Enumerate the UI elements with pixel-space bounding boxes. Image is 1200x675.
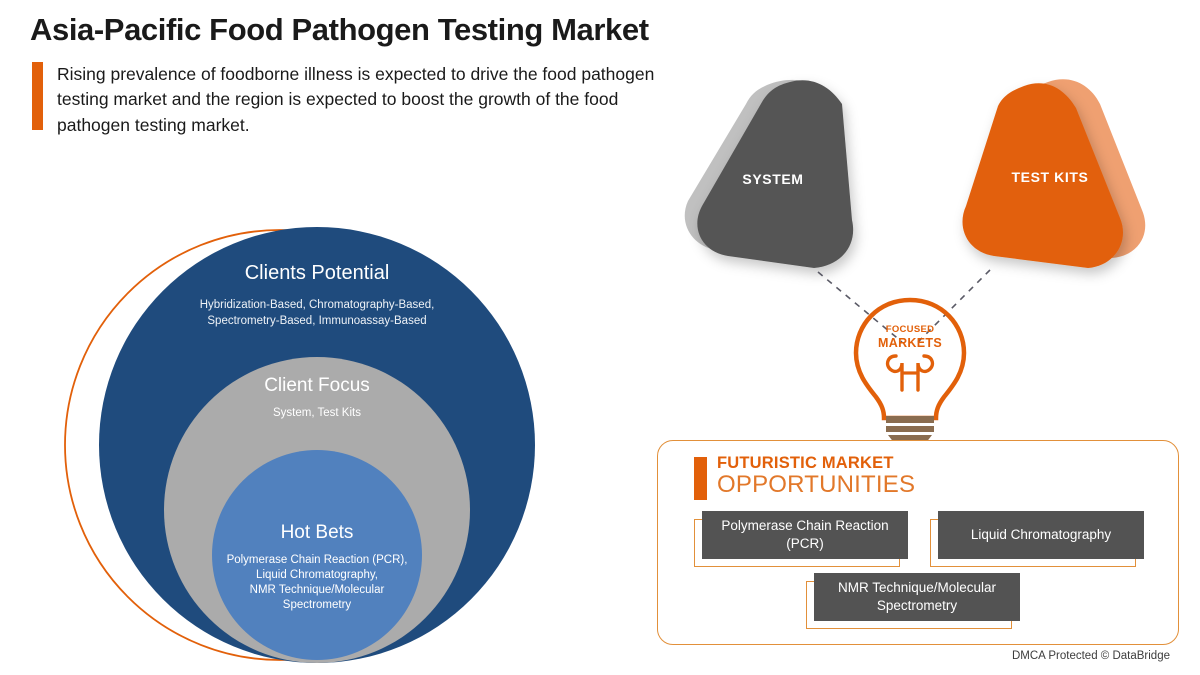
- panel-heading-line1: FUTURISTIC MARKET: [717, 455, 915, 472]
- inner-circle-items-line3: NMR Technique/Molecular: [250, 584, 385, 596]
- bulb-label-bottom: MARKETS: [878, 336, 942, 350]
- bulb-label-top: FOCUSED: [886, 324, 935, 335]
- opportunity-chip-nmr[interactable]: NMR Technique/Molecular Spectrometry: [806, 573, 1012, 621]
- infographic-canvas: Asia-Pacific Food Pathogen Testing Marke…: [0, 0, 1200, 675]
- outer-circle-items-line2: Spectrometry-Based, Immunoassay-Based: [207, 315, 426, 327]
- inner-circle-items-line2: Liquid Chromatography,: [256, 569, 378, 581]
- futuristic-market-opportunities-panel: FUTURISTIC MARKET OPPORTUNITIES Polymera…: [657, 440, 1179, 645]
- panel-heading-lines: FUTURISTIC MARKET OPPORTUNITIES: [717, 455, 915, 497]
- concentric-circles-diagram: Clients Potential Hybridization-Based, C…: [55, 205, 555, 675]
- panel-heading: FUTURISTIC MARKET OPPORTUNITIES: [694, 455, 915, 500]
- inner-circle-items-line4: Spectrometry: [283, 599, 352, 611]
- inner-circle-title: Hot Bets: [281, 522, 354, 543]
- panel-accent-bar: [694, 457, 707, 500]
- test-kits-label: TEST KITS: [1012, 169, 1089, 185]
- opportunity-chip-pcr[interactable]: Polymerase Chain Reaction (PCR): [694, 511, 900, 559]
- panel-heading-line2: OPPORTUNITIES: [717, 473, 915, 497]
- focused-markets-diagram: SYSTEM TEST KITS FOCUSED MARKE: [650, 60, 1200, 440]
- outer-circle-items-line1: Hybridization-Based, Chromatography-Base…: [200, 299, 435, 311]
- outer-circle-title: Clients Potential: [245, 262, 390, 284]
- chip-label: Polymerase Chain Reaction (PCR): [702, 511, 908, 559]
- chip-label: Liquid Chromatography: [938, 511, 1144, 559]
- middle-circle-title: Client Focus: [264, 375, 370, 396]
- subtitle-text: Rising prevalence of foodborne illness i…: [57, 62, 672, 138]
- opportunity-chip-liquid-chromatography[interactable]: Liquid Chromatography: [930, 511, 1136, 559]
- middle-circle-items-line1: System, Test Kits: [273, 407, 361, 419]
- page-title: Asia-Pacific Food Pathogen Testing Marke…: [30, 12, 810, 48]
- accent-bar: [32, 62, 43, 130]
- footer-credit: DMCA Protected © DataBridge: [1012, 650, 1170, 662]
- inner-circle-items-line1: Polymerase Chain Reaction (PCR),: [227, 554, 408, 566]
- lightbulb-icon: FOCUSED MARKETS: [856, 300, 964, 440]
- system-label: SYSTEM: [742, 171, 803, 187]
- subtitle-block: Rising prevalence of foodborne illness i…: [32, 62, 672, 138]
- chip-label: NMR Technique/Molecular Spectrometry: [814, 573, 1020, 621]
